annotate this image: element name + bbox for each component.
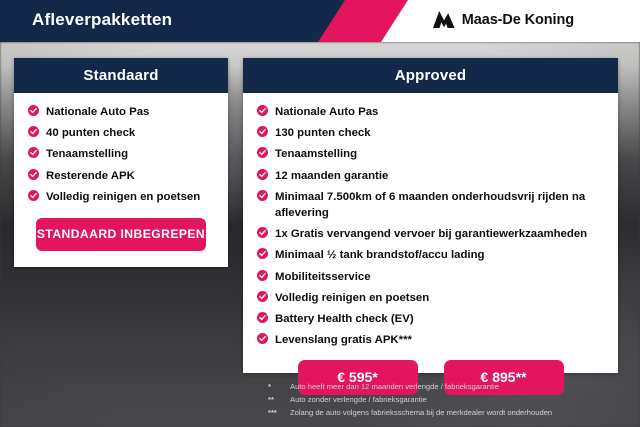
check-circle-icon	[257, 227, 268, 238]
feature-label: Tenaamstelling	[46, 146, 128, 162]
check-circle-icon	[257, 147, 268, 158]
feature-label: Battery Health check (EV)	[275, 311, 414, 327]
feature-label: Tenaamstelling	[275, 146, 357, 162]
footnotes-block: * Auto heeft meer dan 12 maanden verleng…	[268, 381, 628, 420]
top-header-bar: Afleverpakketten Maas-De Koning	[0, 0, 640, 42]
slide-root: Afleverpakketten Maas-De Koning Standaar…	[0, 0, 640, 427]
list-item: 12 maanden garantie	[257, 168, 604, 184]
feature-label: Levenslang gratis APK***	[275, 332, 412, 348]
approved-card-header: Approved	[243, 58, 618, 93]
check-circle-icon	[28, 126, 39, 137]
feature-label: Resterende APK	[46, 168, 135, 184]
feature-label: Mobiliteitsservice	[275, 269, 371, 285]
check-circle-icon	[28, 105, 39, 116]
brand-logo: Maas-De Koning	[433, 11, 574, 29]
footnote-text: Zolang de auto volgens fabrieksschema bi…	[290, 407, 552, 418]
check-circle-icon	[257, 169, 268, 180]
list-item: Nationale Auto Pas	[257, 104, 604, 120]
standaard-card-body: Nationale Auto Pas 40 punten check Tenaa…	[14, 93, 228, 251]
list-item: Volledig reinigen en poetsen	[257, 290, 604, 306]
footnote-row: *** Zolang de auto volgens fabrieksschem…	[268, 407, 628, 418]
standaard-card-header: Standaard	[14, 58, 228, 93]
feature-label: Volledig reinigen en poetsen	[46, 189, 200, 205]
feature-label: 40 punten check	[46, 125, 135, 141]
feature-label: 1x Gratis vervangend vervoer bij garanti…	[275, 226, 587, 242]
list-item: Levenslang gratis APK***	[257, 332, 604, 348]
list-item: 1x Gratis vervangend vervoer bij garanti…	[257, 226, 604, 242]
check-circle-icon	[257, 291, 268, 302]
feature-label: 12 maanden garantie	[275, 168, 388, 184]
feature-label: Minimaal 7.500km of 6 maanden onderhouds…	[275, 189, 604, 221]
brand-name: Maas-De Koning	[462, 12, 574, 28]
footnote-row: ** Auto zonder verlengde / fabrieksgaran…	[268, 394, 628, 405]
list-item: Mobiliteitsservice	[257, 269, 604, 285]
list-item: Battery Health check (EV)	[257, 311, 604, 327]
page-title: Afleverpakketten	[32, 10, 172, 30]
check-circle-icon	[257, 105, 268, 116]
feature-label: Minimaal ½ tank brandstof/accu lading	[275, 247, 485, 263]
approved-card-title: Approved	[395, 67, 467, 84]
check-circle-icon	[28, 190, 39, 201]
feature-label: 130 punten check	[275, 125, 371, 141]
check-circle-icon	[257, 190, 268, 201]
approved-card-body: Nationale Auto Pas 130 punten check Tena…	[243, 93, 618, 395]
footnote-marker: **	[268, 394, 284, 405]
feature-label: Nationale Auto Pas	[275, 104, 378, 120]
check-circle-icon	[257, 312, 268, 323]
check-circle-icon	[257, 248, 268, 259]
feature-label: Nationale Auto Pas	[46, 104, 149, 120]
footnote-text: Auto heeft meer dan 12 maanden verlengde…	[290, 381, 499, 392]
feature-label: Volledig reinigen en poetsen	[275, 290, 429, 306]
standaard-card-title: Standaard	[83, 67, 158, 84]
list-item: Resterende APK	[28, 168, 214, 184]
list-item: 40 punten check	[28, 125, 214, 141]
check-circle-icon	[28, 147, 39, 158]
list-item: 130 punten check	[257, 125, 604, 141]
list-item: Volledig reinigen en poetsen	[28, 189, 214, 205]
standaard-card: Standaard Nationale Auto Pas 40 punten c…	[14, 58, 228, 267]
standaard-feature-list: Nationale Auto Pas 40 punten check Tenaa…	[28, 104, 214, 205]
list-item: Nationale Auto Pas	[28, 104, 214, 120]
check-circle-icon	[257, 270, 268, 281]
check-circle-icon	[28, 169, 39, 180]
standaard-inbegrepen-button[interactable]: STANDAARD INBEGREPEN	[36, 218, 206, 251]
check-circle-icon	[257, 333, 268, 344]
check-circle-icon	[257, 126, 268, 137]
approved-feature-list: Nationale Auto Pas 130 punten check Tena…	[257, 104, 604, 348]
footnote-text: Auto zonder verlengde / fabrieksgarantie	[290, 394, 427, 405]
footnote-marker: *	[268, 381, 284, 392]
maas-de-koning-m-mark-icon	[433, 11, 455, 29]
list-item: Tenaamstelling	[28, 146, 214, 162]
list-item: Minimaal ½ tank brandstof/accu lading	[257, 247, 604, 263]
approved-card: Approved Nationale Auto Pas 130 punten c…	[243, 58, 618, 373]
footnote-row: * Auto heeft meer dan 12 maanden verleng…	[268, 381, 628, 392]
list-item: Minimaal 7.500km of 6 maanden onderhouds…	[257, 189, 604, 221]
list-item: Tenaamstelling	[257, 146, 604, 162]
footnote-marker: ***	[268, 407, 284, 418]
